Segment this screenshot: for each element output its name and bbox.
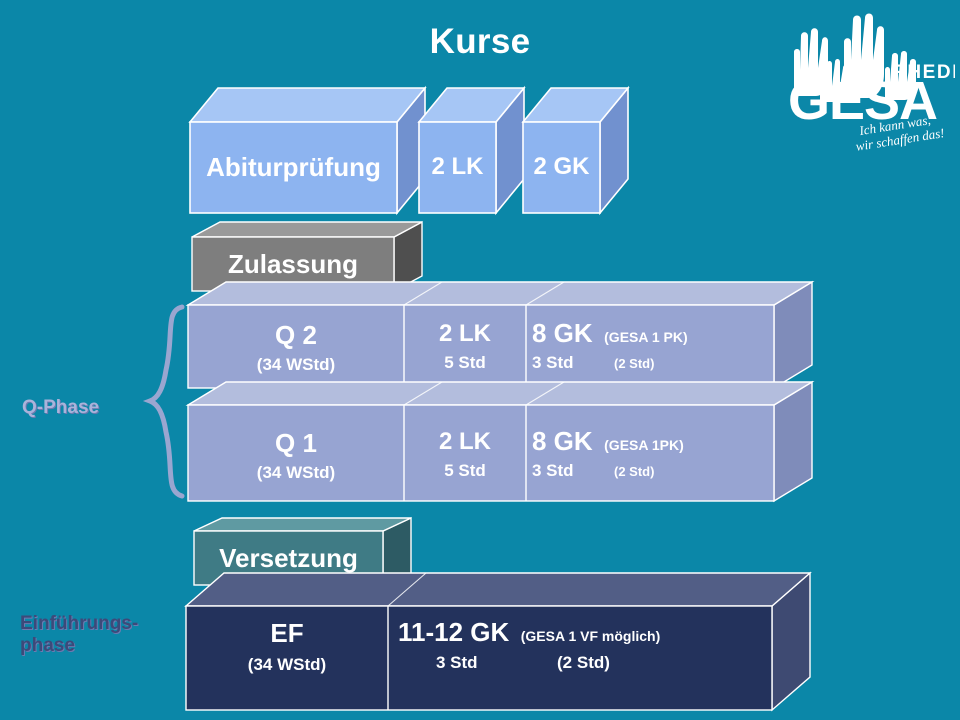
cell-q1-level: Q 1 (34 WStd) [188,428,404,483]
q2-gk-main: 8 GK [532,318,593,348]
ef-gk-sub: 3 Std [436,653,478,672]
q2-gk-sub2: (2 Std) [614,356,654,371]
abi-2gk-text: 2 GK [533,153,589,180]
cell-q2-level: Q 2 (34 WStd) [188,320,404,375]
versetzung-text: Versetzung [219,543,358,573]
label-einfuehrungsphase: Einführungs- phase [20,613,138,657]
slide-canvas: Kurse Abiturprüfung 2 LK 2 GK Zulassung … [0,0,960,720]
q2-gk-note: (GESA 1 PK) [604,329,688,345]
label-abiturpruefung: Abiturprüfung [190,152,397,183]
label-zulassung: Zulassung [192,249,394,280]
label-versetzung: Versetzung [194,543,383,574]
cell-ef-level: EF (34 WStd) [186,618,388,675]
q2-lk-sub: 5 Std [404,353,526,373]
ef-gk-note: (GESA 1 VF möglich) [521,628,661,644]
q2-gk-sub: 3 Std [532,353,574,372]
box-abiturpruefung [190,88,425,213]
abi-2lk-text: 2 LK [431,153,483,180]
box-abi-2lk [419,88,524,213]
cell-ef-gk: 11-12 GK (GESA 1 VF möglich) 3 Std (2 St… [398,617,748,673]
q1-gk-sub2: (2 Std) [614,464,654,479]
ef-gk-main: 11-12 GK [398,617,509,647]
cell-q2-lk: 2 LK 5 Std [404,320,526,373]
q1-level-main: Q 1 [188,428,404,459]
label-abi-2gk: 2 GK [523,153,600,181]
cell-q1-gk: 8 GK (GESA 1PK) 3 Std (2 Std) [532,426,772,481]
q-phase-brace [150,307,182,496]
abiturpruefung-text: Abiturprüfung [206,152,381,182]
gesa-rhede-logo: RHEDE GESA Ich kann was, wir schaffen da… [770,8,955,153]
cell-q2-gk: 8 GK (GESA 1 PK) 3 Std (2 Std) [532,318,772,373]
ef-level-main: EF [186,618,388,649]
q1-level-sub: (34 WStd) [188,463,404,483]
q1-gk-main: 8 GK [532,426,593,456]
cell-q1-lk: 2 LK 5 Std [404,428,526,481]
label-q-phase: Q-Phase [22,397,99,419]
q1-gk-note: (GESA 1PK) [604,437,684,453]
zulassung-text: Zulassung [228,249,358,279]
q2-lk-main: 2 LK [404,320,526,348]
label-abi-2lk: 2 LK [419,153,496,181]
q1-lk-main: 2 LK [404,428,526,456]
ef-gk-sub2: (2 Std) [557,653,610,672]
ef-level-sub: (34 WStd) [186,655,388,675]
q1-lk-sub: 5 Std [404,461,526,481]
q1-gk-sub: 3 Std [532,461,574,480]
q2-level-sub: (34 WStd) [188,355,404,375]
box-abi-2gk [523,88,628,213]
q2-level-main: Q 2 [188,320,404,351]
